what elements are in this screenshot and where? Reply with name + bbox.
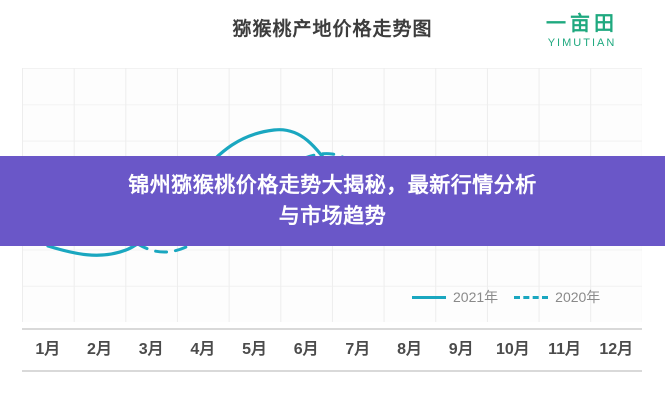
x-tick-10: 10月 bbox=[487, 330, 539, 370]
x-tick-4: 4月 bbox=[177, 330, 229, 370]
legend-label-2020: 2020年 bbox=[555, 287, 600, 307]
x-axis-labels: 1月 2月 3月 4月 5月 6月 7月 8月 9月 10月 11月 12月 bbox=[22, 330, 642, 370]
legend-label-2021: 2021年 bbox=[453, 287, 498, 307]
x-tick-7: 7月 bbox=[332, 330, 384, 370]
screenshot-root: 猕猴桃产地价格走势图 一亩田 YIMUTIAN 2021年 2020年 bbox=[0, 0, 665, 400]
legend-swatch-dashed-icon bbox=[514, 296, 548, 299]
headline-line-2: 与市场趋势 bbox=[23, 201, 643, 232]
x-tick-11: 11月 bbox=[539, 330, 591, 370]
x-tick-6: 6月 bbox=[280, 330, 332, 370]
x-tick-12: 12月 bbox=[590, 330, 642, 370]
legend-item-2020[interactable]: 2020年 bbox=[514, 287, 600, 307]
x-tick-3: 3月 bbox=[125, 330, 177, 370]
x-tick-8: 8月 bbox=[384, 330, 436, 370]
brand-mark-text: 一亩田 bbox=[523, 12, 641, 36]
x-tick-9: 9月 bbox=[435, 330, 487, 370]
brand-name-text: YIMUTIAN bbox=[523, 36, 641, 50]
headline-text: 锦州猕猴桃价格走势大揭秘，最新行情分析 与市场趋势 bbox=[23, 170, 643, 232]
brand-logo: 一亩田 YIMUTIAN bbox=[523, 12, 641, 62]
headline-banner: 锦州猕猴桃价格走势大揭秘，最新行情分析 与市场趋势 bbox=[0, 156, 665, 246]
x-tick-2: 2月 bbox=[74, 330, 126, 370]
chart-legend: 2021年 2020年 bbox=[412, 286, 600, 308]
legend-swatch-solid-icon bbox=[412, 296, 446, 299]
x-axis-bottom-rule bbox=[22, 370, 642, 372]
legend-item-2021[interactable]: 2021年 bbox=[412, 287, 498, 307]
x-tick-5: 5月 bbox=[229, 330, 281, 370]
headline-line-1: 锦州猕猴桃价格走势大揭秘，最新行情分析 bbox=[23, 170, 643, 201]
x-tick-1: 1月 bbox=[22, 330, 74, 370]
